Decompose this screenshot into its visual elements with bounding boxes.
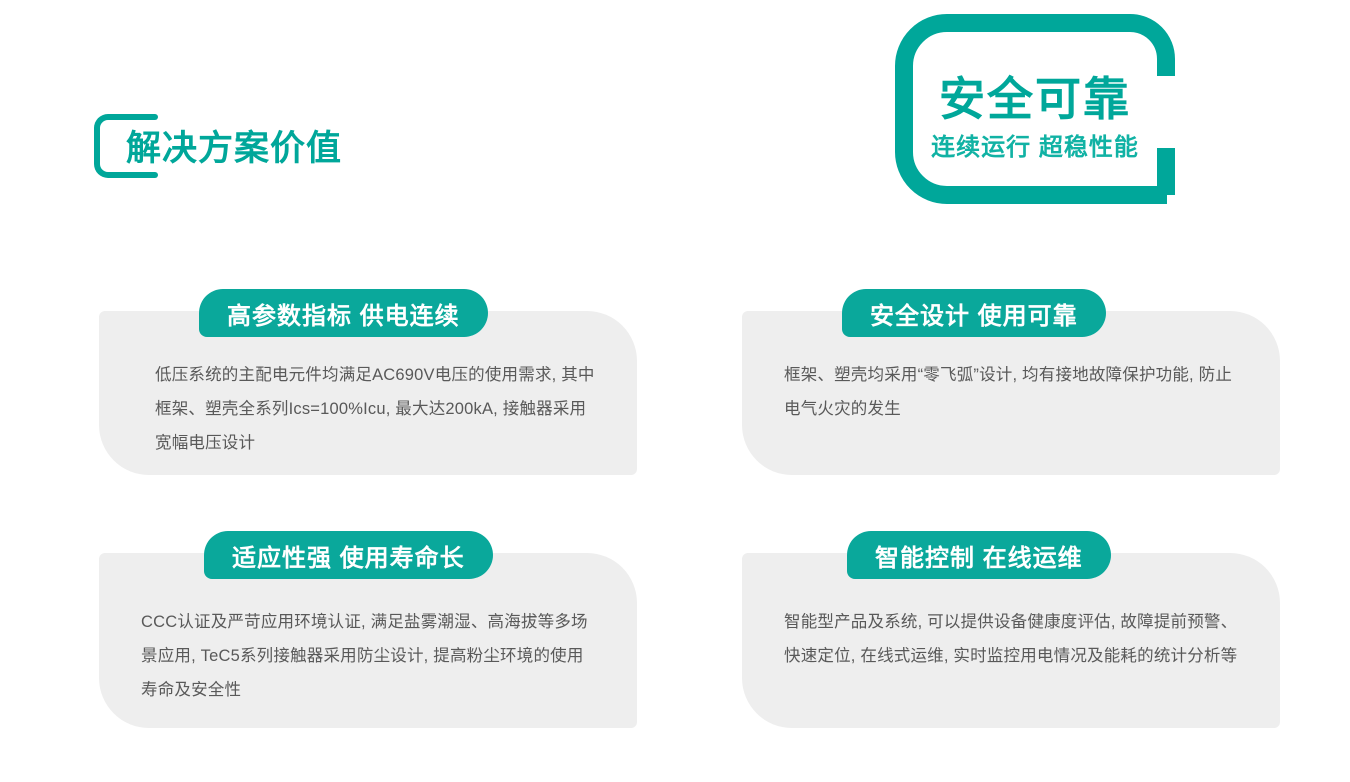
feature-card-body: CCC认证及严苛应用环境认证, 满足盐雾潮湿、高海拔等多场景应用, TeC5系列… bbox=[141, 605, 595, 707]
brand-badge: 安全可靠 连续运行 超稳性能 bbox=[895, 14, 1175, 204]
feature-card-body: 智能型产品及系统, 可以提供设备健康度评估, 故障提前预警、快速定位, 在线式运… bbox=[784, 605, 1238, 673]
feature-card-title: 安全设计 使用可靠 bbox=[842, 289, 1106, 337]
page-title: 解决方案价值 bbox=[126, 131, 342, 166]
feature-card: 智能控制 在线运维 智能型产品及系统, 可以提供设备健康度评估, 故障提前预警、… bbox=[742, 553, 1280, 728]
feature-card: 高参数指标 供电连续 低压系统的主配电元件均满足AC690V电压的使用需求, 其… bbox=[99, 311, 637, 475]
feature-card: 适应性强 使用寿命长 CCC认证及严苛应用环境认证, 满足盐雾潮湿、高海拔等多场… bbox=[99, 553, 637, 728]
feature-card-title: 高参数指标 供电连续 bbox=[199, 289, 488, 337]
feature-card-body: 低压系统的主配电元件均满足AC690V电压的使用需求, 其中框架、塑壳全系列Ic… bbox=[155, 358, 595, 460]
feature-card-title: 适应性强 使用寿命长 bbox=[204, 531, 493, 579]
feature-card: 安全设计 使用可靠 框架、塑壳均采用“零飞弧”设计, 均有接地故障保护功能, 防… bbox=[742, 311, 1280, 475]
section-heading: 解决方案价值 bbox=[90, 108, 342, 188]
feature-card-body: 框架、塑壳均采用“零飞弧”设计, 均有接地故障保护功能, 防止电气火灾的发生 bbox=[784, 358, 1238, 426]
brand-title: 安全可靠 bbox=[895, 76, 1175, 122]
slide-canvas: 解决方案价值 安全可靠 连续运行 超稳性能 高参数指标 供电连续 低压系统的主配… bbox=[0, 0, 1350, 782]
brand-subtitle: 连续运行 超稳性能 bbox=[895, 136, 1175, 160]
feature-card-title: 智能控制 在线运维 bbox=[847, 531, 1111, 579]
